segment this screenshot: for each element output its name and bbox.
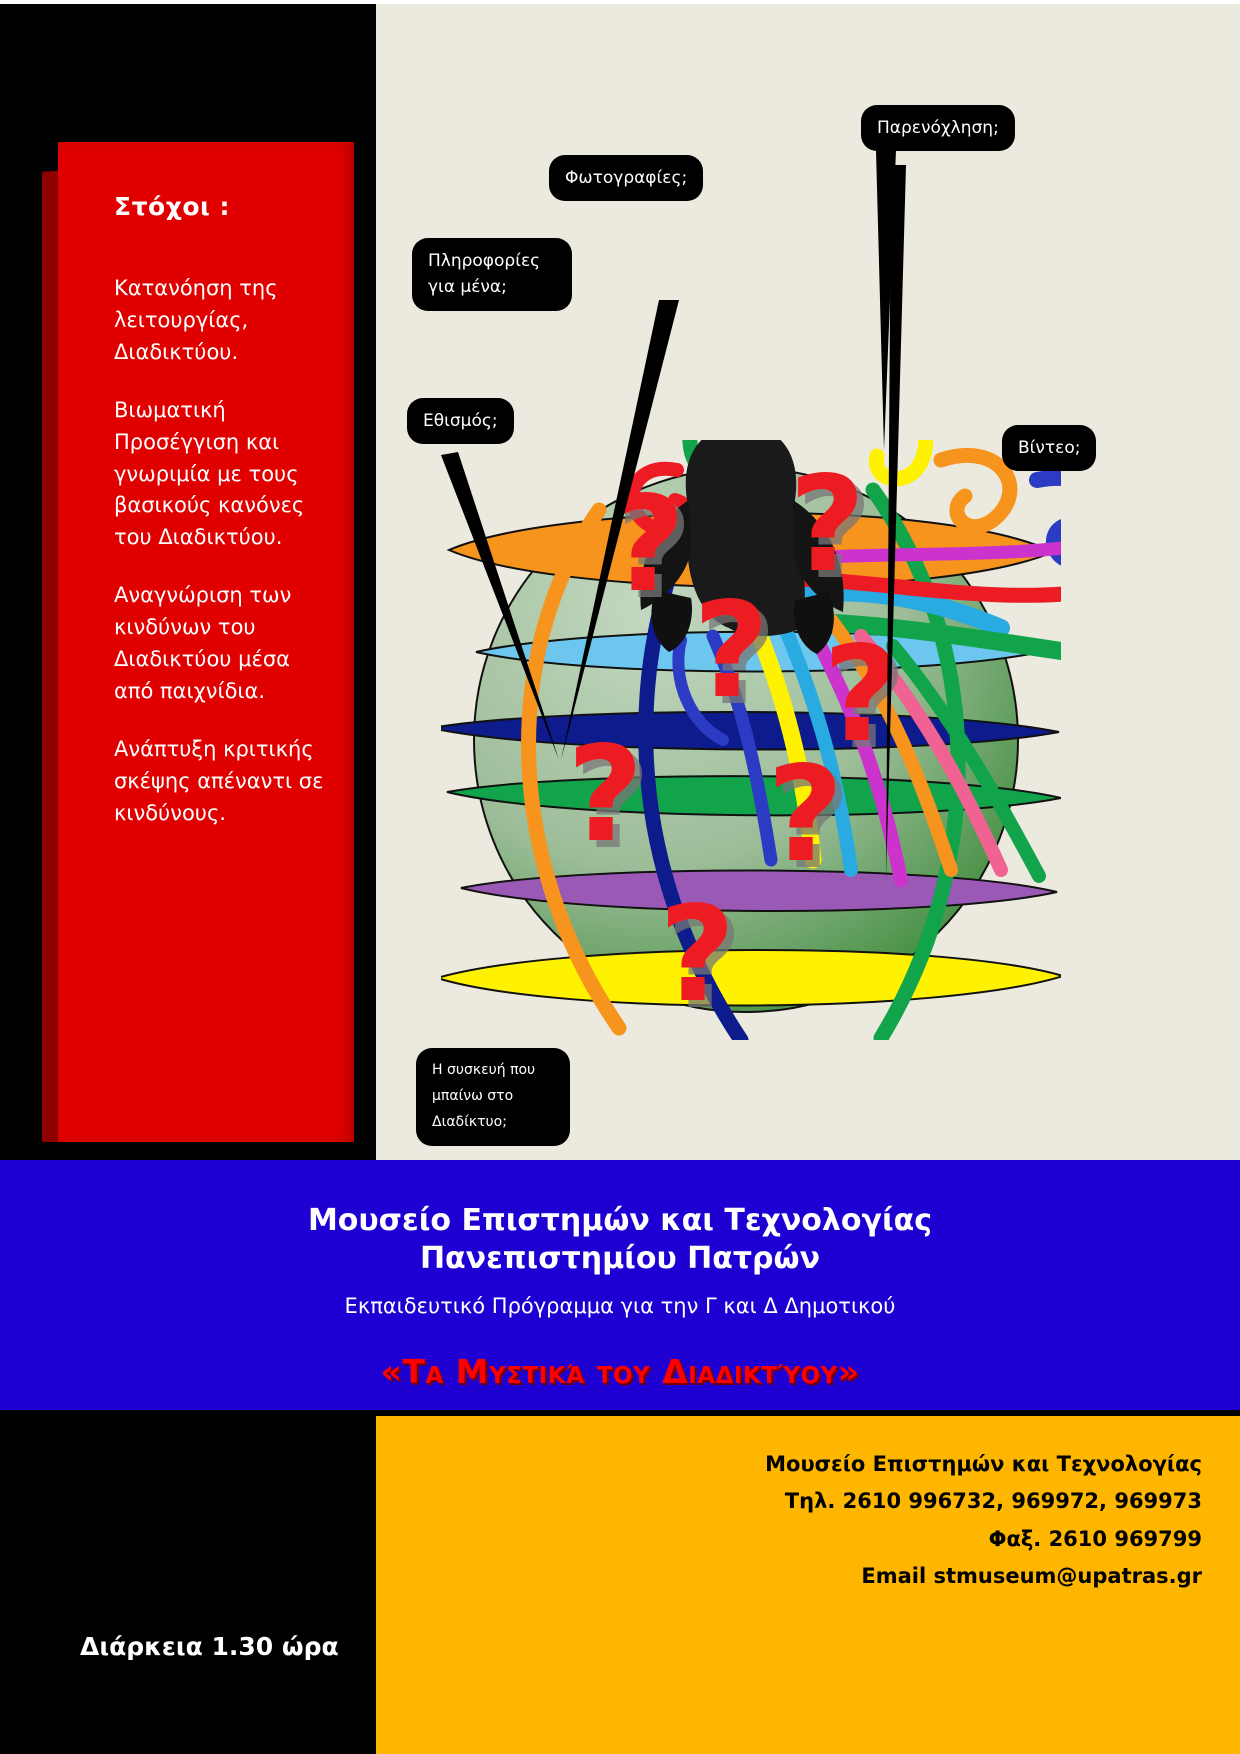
poster-root: Στόχοι : Κατανόηση της λειτουργίας, Διαδ… — [0, 0, 1240, 1754]
program-subtitle: Εκπαιδευτικό Πρόγραμμα για την Γ και Δ Δ… — [0, 1294, 1240, 1318]
goal-item: Κατανόηση της λειτουργίας, Διαδικτύου. — [114, 273, 332, 369]
org-name-line1: Μουσείο Επιστημών και Τεχνολογίας — [0, 1202, 1240, 1240]
bubble-harassment[interactable]: Παρενόχληση; — [861, 105, 1015, 151]
bubble-video[interactable]: Βίντεο; — [1002, 425, 1096, 471]
goals-box: Στόχοι : Κατανόηση της λειτουργίας, Διαδ… — [58, 142, 354, 1142]
bubble-addiction[interactable]: Εθισμός; — [407, 398, 514, 444]
bubble-device[interactable]: Η συσκευή που μπαίνω στο Διαδίκτυο; — [416, 1048, 570, 1146]
illustration-area: ? ? ? ? ? ? ? Παρενόχληση; Φωτογραφίες; … — [376, 0, 1240, 1160]
title-band: Μουσείο Επιστημών και Τεχνολογίας Πανεπι… — [0, 1160, 1240, 1410]
org-name-line2: Πανεπιστημίου Πατρών — [0, 1240, 1240, 1278]
goal-item: Ανάπτυξη κριτικής σκέψης απέναντι σε κιν… — [114, 734, 332, 830]
contact-line: Μουσείο Επιστημών και Τεχνολογίας — [765, 1446, 1202, 1483]
contact-block: Μουσείο Επιστημών και Τεχνολογίας Τηλ. 2… — [765, 1446, 1202, 1596]
goal-item: Αναγνώριση των κινδύνων του Διαδικτύου μ… — [114, 580, 332, 708]
contact-line: Τηλ. 2610 996732, 969972, 969973 — [765, 1483, 1202, 1520]
goals-title: Στόχοι : — [114, 192, 332, 221]
bubble-info-about-me[interactable]: Πληροφορίες για μένα; — [412, 238, 572, 311]
footer-contact-box: Μουσείο Επιστημών και Τεχνολογίας Τηλ. 2… — [376, 1416, 1240, 1754]
bubble-tails — [376, 0, 1240, 1160]
bubble-photos[interactable]: Φωτογραφίες; — [549, 155, 703, 201]
contact-line: Φαξ. 2610 969799 — [765, 1521, 1202, 1558]
top-hairline — [0, 0, 1240, 4]
duration-label: Διάρκεια 1.30 ώρα — [80, 1632, 339, 1661]
program-title: «Τα Μυστικά του Διαδικτύου» — [0, 1352, 1240, 1391]
contact-line[interactable]: Email stmuseum@upatras.gr — [765, 1558, 1202, 1595]
goal-item: Βιωματική Προσέγγιση και γνωριμία με του… — [114, 395, 332, 555]
